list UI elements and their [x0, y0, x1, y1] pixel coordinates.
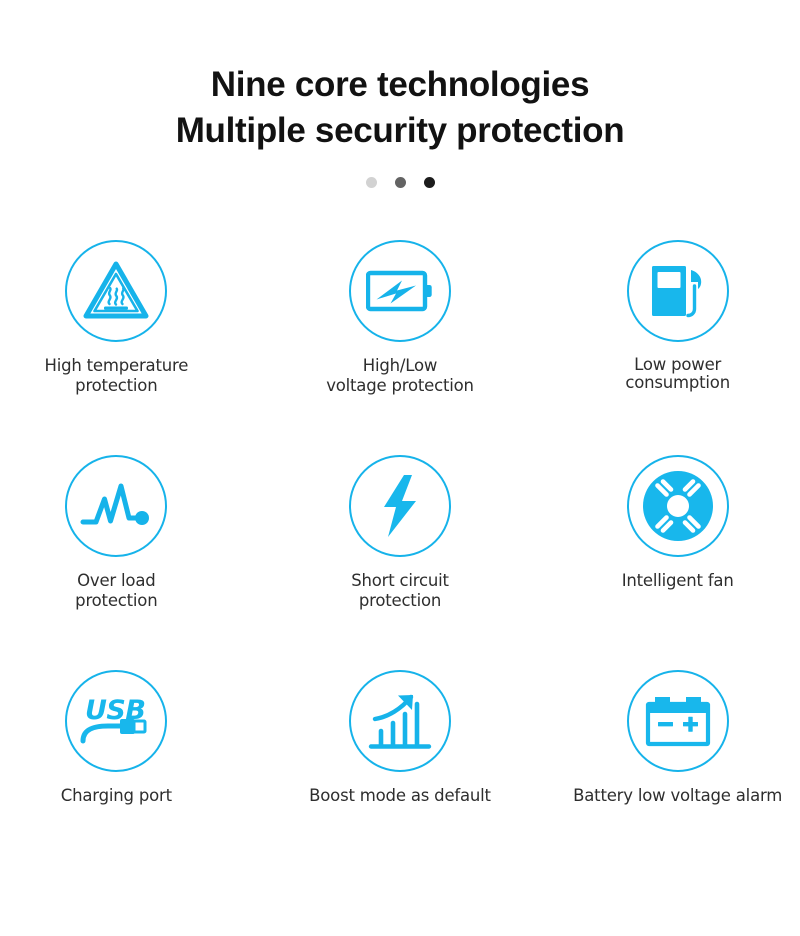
feature-label: Over load protection [75, 571, 157, 611]
usb-cable-icon: USB [65, 670, 167, 772]
feature-item-intelligent-fan: Intelligent fan [544, 455, 800, 670]
feature-label: Short circuit protection [351, 571, 449, 611]
bar-chart-arrow-up-icon [349, 670, 451, 772]
page-title-line-1: Nine core technologies [0, 62, 800, 108]
feature-item-battery-alarm: Battery low voltage alarm [544, 670, 800, 885]
car-battery-icon [627, 670, 729, 772]
feature-label: Charging port [61, 786, 172, 806]
feature-label: Intelligent fan [622, 571, 734, 591]
feature-item-high-low-voltage: High/Low voltage protection [267, 240, 534, 455]
high-temperature-warning-icon [65, 240, 167, 342]
feature-item-short-circuit: Short circuit protection [267, 455, 534, 670]
feature-label: High/Low voltage protection [326, 356, 474, 396]
carousel-pagination[interactable] [0, 176, 800, 188]
feature-label: Low power consumption [625, 356, 730, 392]
pagination-dot-2[interactable] [395, 177, 406, 188]
feature-grid: High temperature protection High/Low vol… [0, 240, 800, 885]
feature-item-high-temperature: High temperature protection [0, 240, 250, 455]
feature-item-charging-port: USB Charging port [0, 670, 250, 885]
feature-label: Boost mode as default [309, 786, 491, 806]
cooling-fan-icon [627, 455, 729, 557]
pagination-dot-1[interactable] [366, 177, 377, 188]
feature-item-low-power: Low power consumption [544, 240, 800, 455]
promo-page: Nine core technologies Multiple security… [0, 0, 800, 936]
battery-charging-icon [349, 240, 451, 342]
fuel-pump-icon [627, 240, 729, 342]
lightning-bolt-icon [349, 455, 451, 557]
feature-label: High temperature protection [44, 356, 188, 396]
feature-item-boost-mode: Boost mode as default [267, 670, 534, 885]
feature-item-over-load: Over load protection [0, 455, 250, 670]
page-header: Nine core technologies Multiple security… [0, 0, 800, 188]
pagination-dot-3[interactable] [424, 177, 435, 188]
page-title-line-2: Multiple security protection [0, 108, 800, 154]
feature-label: Battery low voltage alarm [573, 786, 782, 806]
waveform-pulse-icon [65, 455, 167, 557]
